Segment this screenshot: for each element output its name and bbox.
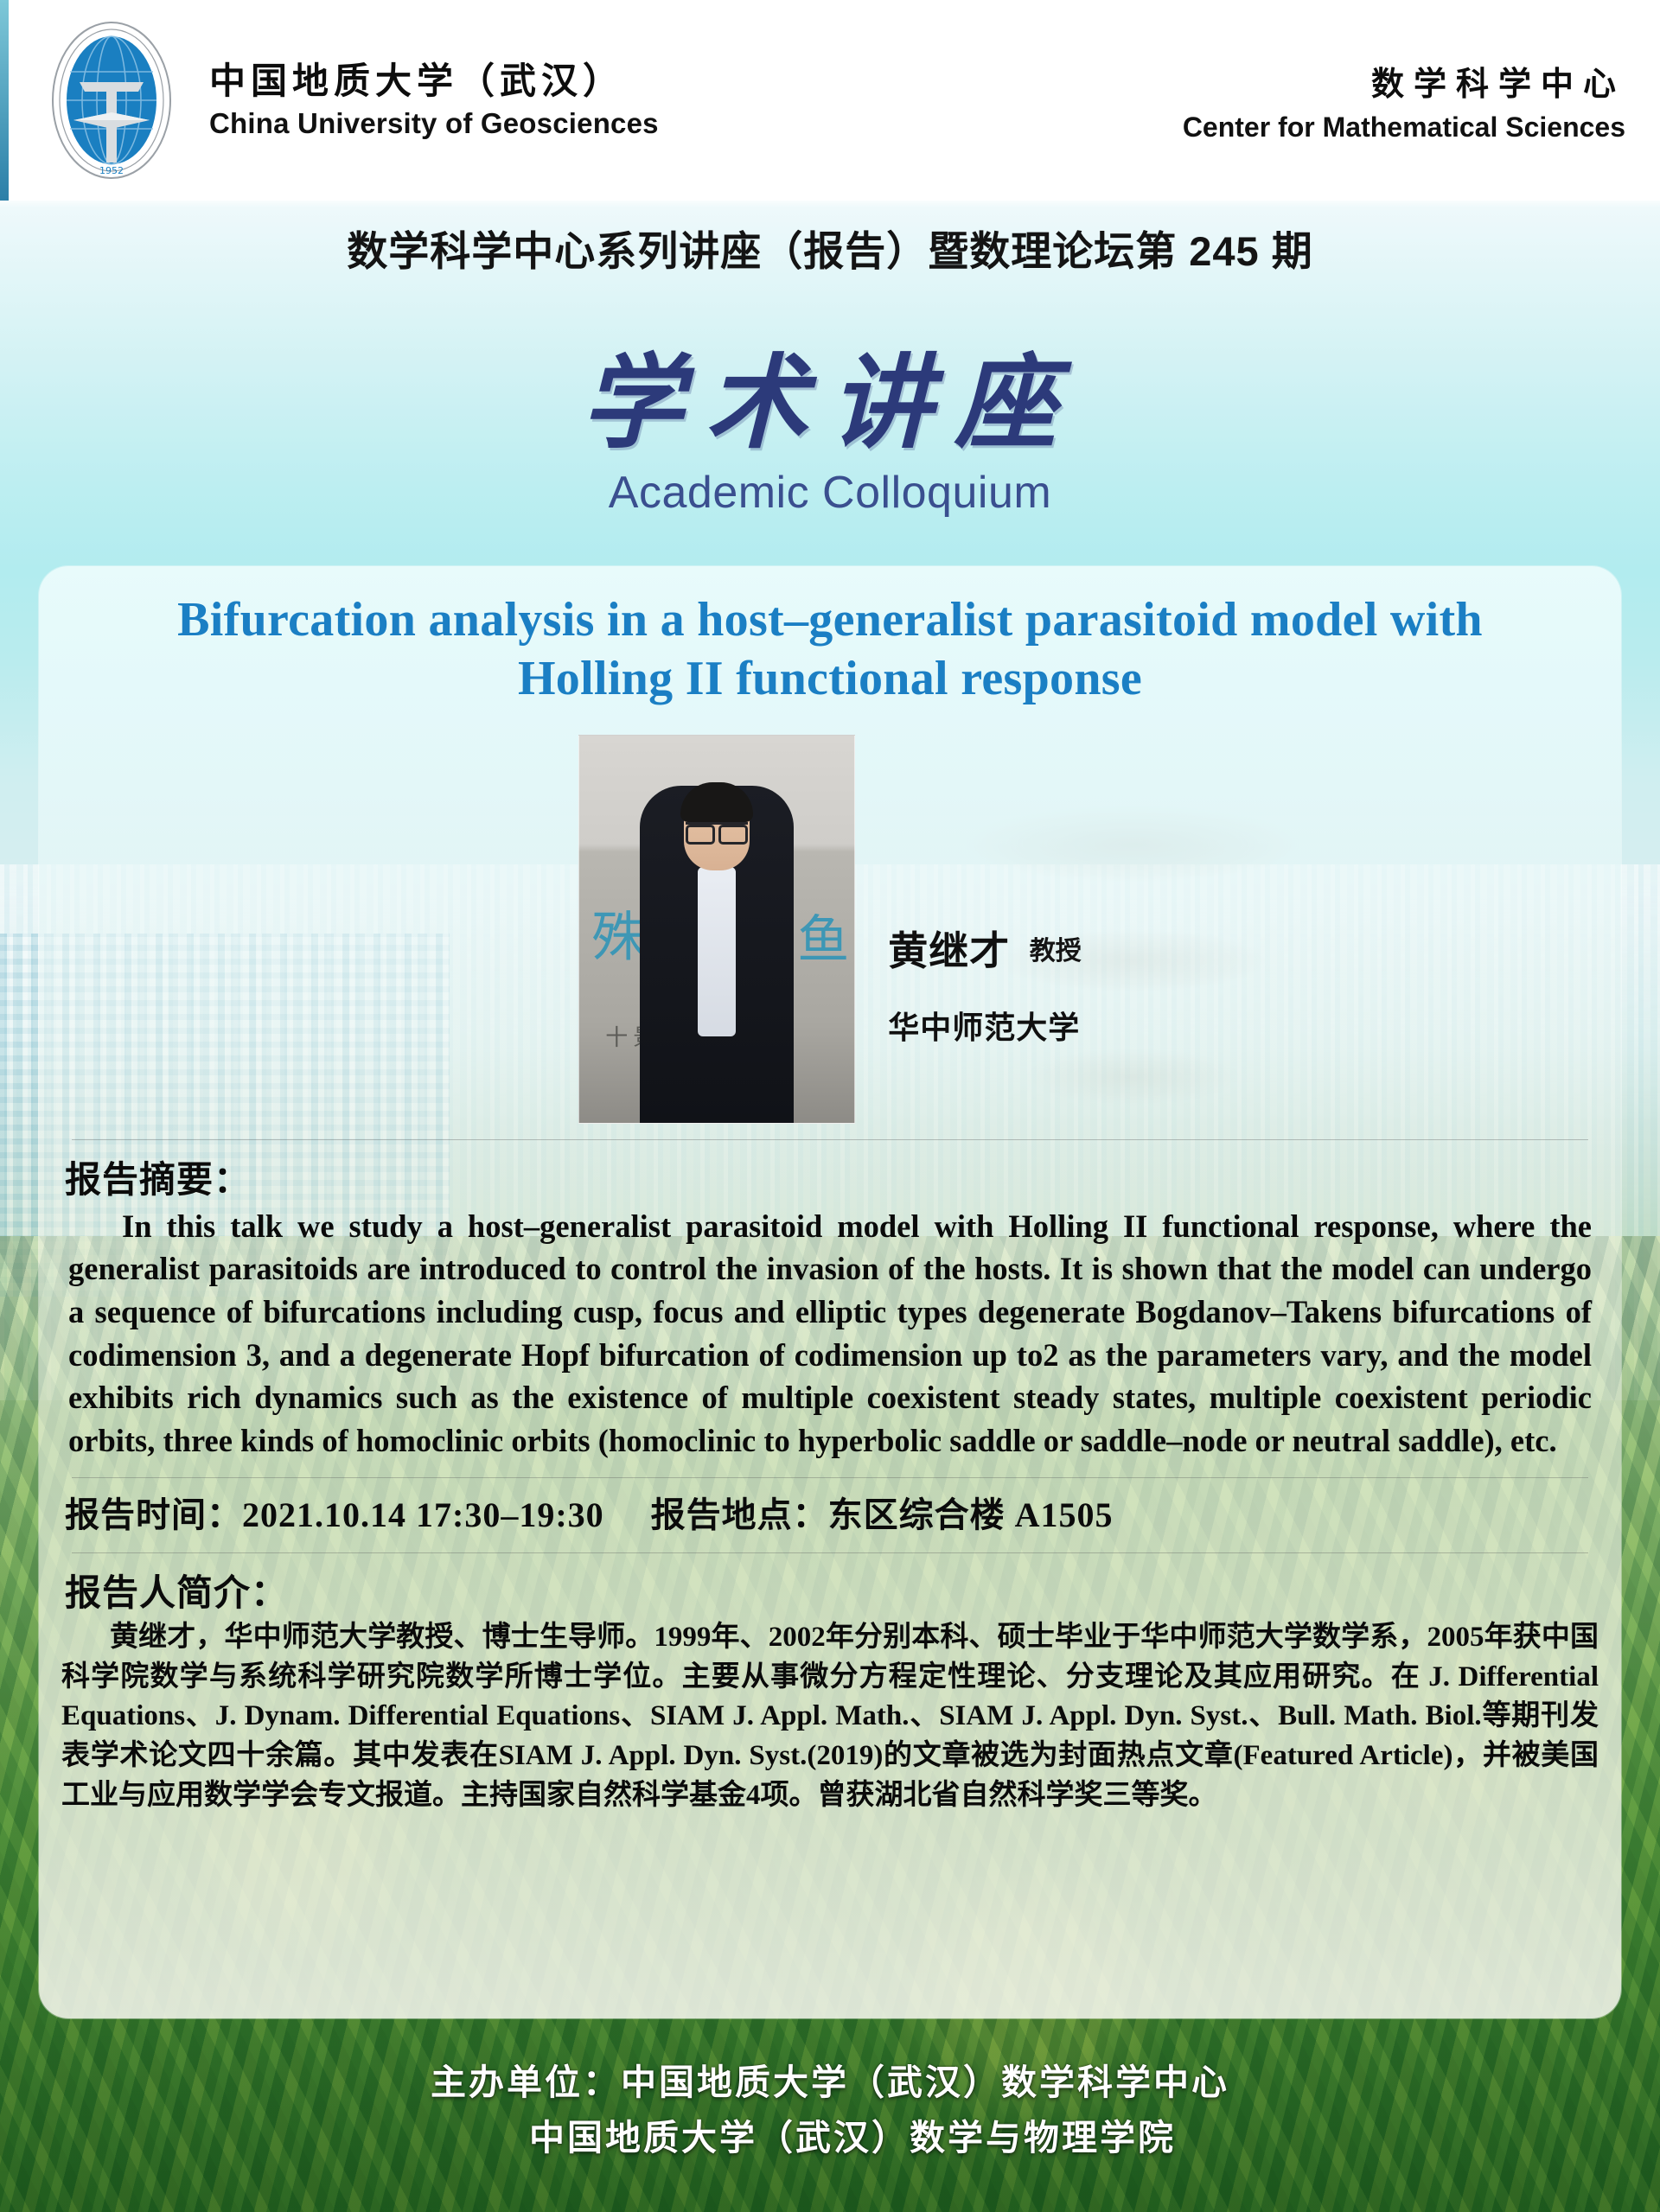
poster-footer: 主办单位：中国地质大学（武汉）数学科学中心 中国地质大学（武汉）数学与物理学院	[0, 2056, 1660, 2165]
speaker-info: 黄继才 教授 华中师范大学	[888, 735, 1081, 1048]
lecture-series-line: 数学科学中心系列讲座（报告）暨数理论坛第 245 期	[0, 218, 1660, 277]
photo-figure-glasses	[686, 822, 748, 837]
divider-above-event	[72, 1477, 1588, 1478]
speaker-affiliation: 华中师范大学	[888, 1003, 1081, 1048]
university-name-cn: 中国地质大学（武汉）	[209, 61, 659, 102]
speaker-photo: 殊 鱼 十景之一	[578, 735, 855, 1124]
university-name-en: China University of Geosciences	[209, 107, 659, 140]
speaker-name: 黄继才	[888, 920, 1010, 977]
event-place-label: 报告地点：	[651, 1495, 828, 1534]
event-place-value: 东区综合楼 A1505	[828, 1495, 1114, 1534]
photo-wall-char-right: 鱼	[797, 898, 849, 973]
center-name-block: 数学科学中心 Center for Mathematical Sciences	[1183, 57, 1631, 143]
event-place: 报告地点：东区综合楼 A1505	[651, 1487, 1114, 1537]
content-panel: Bifurcation analysis in a host–generalis…	[39, 566, 1621, 2018]
cug-seal-icon: 1952	[35, 18, 188, 182]
organizer-line-1: 主办单位：中国地质大学（武汉）数学科学中心	[0, 2056, 1660, 2111]
poster-root: 1952 中国地质大学（武汉） China University of Geos…	[0, 0, 1660, 2212]
calligraphy-subtitle-en: Academic Colloquium	[0, 467, 1660, 519]
event-info-row: 报告时间：2021.10.14 17:30–19:30 报告地点：东区综合楼 A…	[65, 1487, 1595, 1537]
speaker-title: 教授	[1030, 929, 1082, 967]
photo-figure-shirt	[698, 867, 736, 1036]
divider-above-bio	[72, 1552, 1588, 1553]
cug-logo: 1952	[29, 14, 194, 187]
bio-label: 报告人简介：	[65, 1564, 1621, 1616]
talk-title: Bifurcation analysis in a host–generalis…	[99, 590, 1561, 709]
abstract-body: In this talk we study a host–generalist …	[68, 1205, 1592, 1463]
center-name-en: Center for Mathematical Sciences	[1183, 112, 1625, 143]
photo-wall-char-left: 殊	[591, 893, 645, 971]
bio-body: 黄继才，华中师范大学教授、博士生导师。1999年、2002年分别本科、硕士毕业于…	[61, 1618, 1599, 1815]
svg-text:1952: 1952	[99, 165, 124, 176]
poster-header: 1952 中国地质大学（武汉） China University of Geos…	[0, 0, 1660, 201]
calligraphy-title: 学术讲座	[0, 320, 1660, 468]
abstract-label: 报告摘要：	[65, 1151, 1621, 1203]
divider-above-abstract	[72, 1139, 1588, 1140]
event-time-value: 2021.10.14 17:30–19:30	[242, 1495, 604, 1534]
event-time: 报告时间：2021.10.14 17:30–19:30	[65, 1487, 604, 1537]
university-name-block: 中国地质大学（武汉） China University of Geoscienc…	[209, 61, 659, 140]
center-name-cn: 数学科学中心	[1183, 57, 1625, 105]
event-time-label: 报告时间：	[65, 1495, 242, 1534]
speaker-block: 殊 鱼 十景之一 黄继才 教授 华中师范大学	[39, 735, 1621, 1124]
organizer-line-2: 中国地质大学（武汉）数学与物理学院	[0, 2111, 1660, 2166]
